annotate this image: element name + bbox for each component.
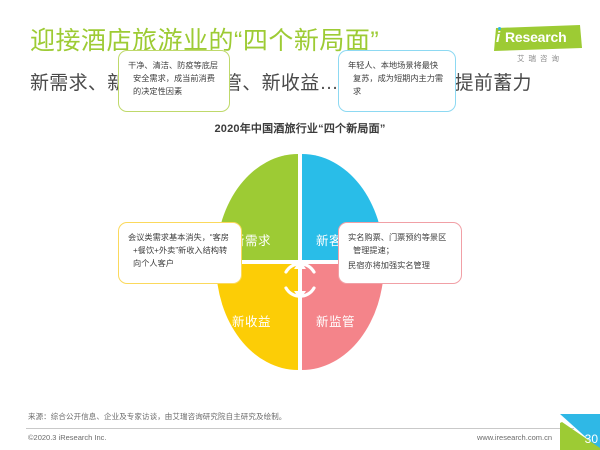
logo-chinese-name: 艾瑞咨询 bbox=[498, 53, 582, 64]
callout-text: 实名购票、门票预约等景区管理提速； bbox=[348, 231, 452, 257]
callout-text: 民宿亦将加强实名管理 bbox=[348, 259, 452, 272]
logo-mark: i bbox=[496, 30, 500, 46]
logo-wordmark: Research bbox=[505, 29, 566, 46]
footer-divider bbox=[26, 428, 574, 429]
source-note: 来源：综合公开信息、企业及专家访谈，由艾瑞咨询研究院自主研究及绘制。 bbox=[28, 411, 286, 422]
callout-top-right[interactable]: 年轻人、本地场景将最快复苏，成为短期内主力需求 bbox=[338, 50, 456, 112]
callout-text: 会议类需求基本消失，“客房+餐饮+外卖”新收入结构转向个人客户 bbox=[128, 231, 232, 270]
callout-text: 干净、清洁、防疫等底层安全需求，成当前消费的决定性因素 bbox=[128, 59, 220, 98]
iresearch-logo: i Research 艾瑞咨询 bbox=[486, 25, 582, 65]
chart-title: 2020年中国酒旅行业“四个新局面” bbox=[16, 120, 584, 136]
callout-text: 年轻人、本地场景将最快复苏，成为短期内主力需求 bbox=[348, 59, 446, 98]
recycle-arrows-icon bbox=[272, 252, 328, 308]
wheel-label-bottom-right: 新监管 bbox=[316, 311, 355, 330]
wheel-label-bottom-left: 新收益 bbox=[232, 311, 271, 330]
callout-top-left[interactable]: 干净、清洁、防疫等底层安全需求，成当前消费的决定性因素 bbox=[118, 50, 230, 112]
page-subtitle: 新需求、新客源、新监管、新收益……行业各方需提前蓄力 bbox=[30, 72, 532, 96]
callout-bottom-left[interactable]: 会议类需求基本消失，“客房+餐饮+外卖”新收入结构转向个人客户 bbox=[118, 222, 242, 284]
website-url: www.iresearch.com.cn bbox=[0, 433, 552, 442]
callout-bottom-right[interactable]: 实名购票、门票预约等景区管理提速； 民宿亦将加强实名管理 bbox=[338, 222, 462, 284]
page-number: 30 bbox=[560, 432, 598, 446]
slide-root: 迎接酒店旅游业的“四个新局面” 新需求、新客源、新监管、新收益……行业各方需提前… bbox=[0, 0, 600, 450]
slide-header: 迎接酒店旅游业的“四个新局面” 新需求、新客源、新监管、新收益……行业各方需提前… bbox=[0, 0, 600, 108]
corner-decoration: 30 bbox=[560, 414, 600, 450]
